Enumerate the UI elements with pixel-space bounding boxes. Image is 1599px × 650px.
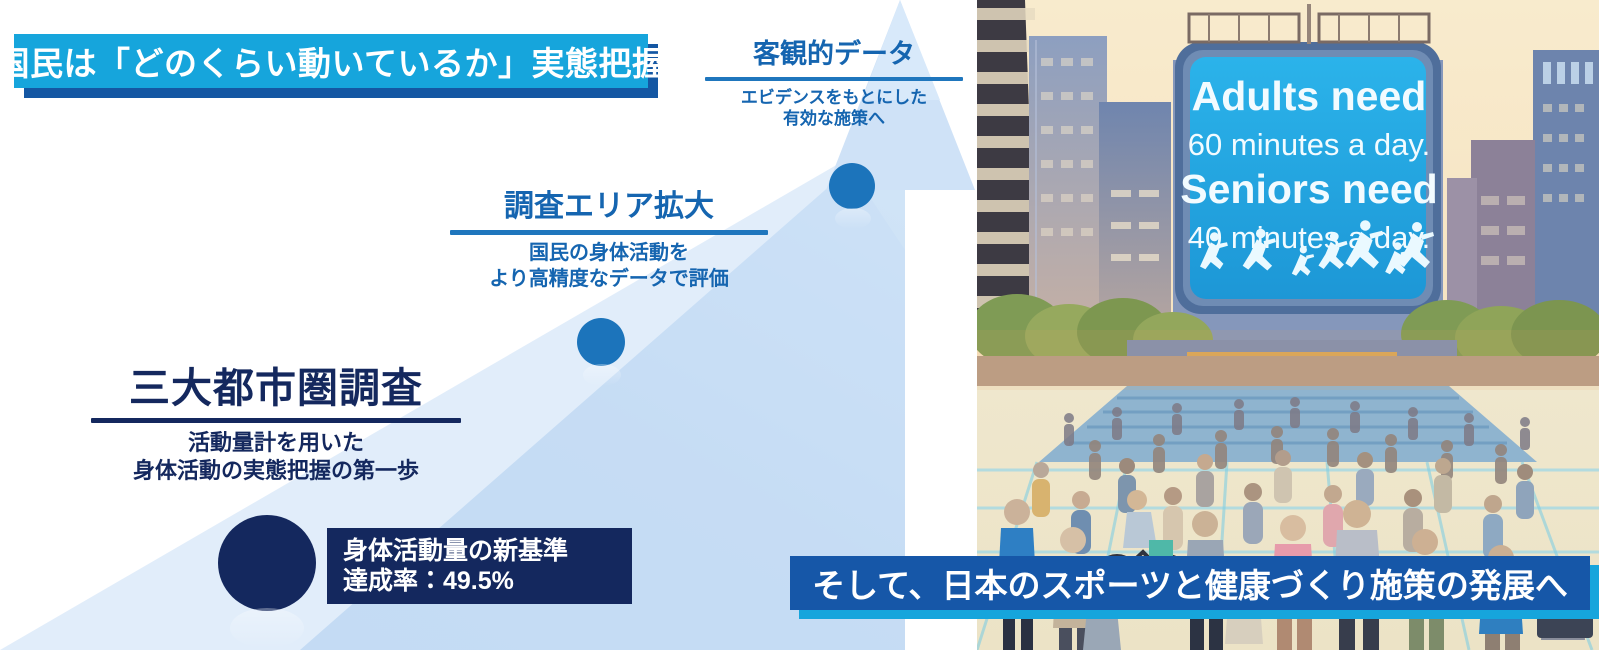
milestone-dot-survey-area-expansion bbox=[577, 318, 625, 366]
milestone-dot-reflection-2 bbox=[583, 364, 621, 386]
milestone-objective-data-subtitle-line2: 有効な施策へ bbox=[684, 108, 984, 130]
milestone-survey-area-expansion-rule bbox=[450, 230, 768, 235]
header-banner-body: 国民は「どのくらい動いているか」実態把握 bbox=[14, 34, 648, 88]
milestone-objective-data: 客観的データ エビデンスをもとにした 有効な施策へ bbox=[684, 40, 984, 130]
milestone-three-metro-survey-rule bbox=[91, 418, 461, 423]
billboard-line4: 40 minutes a day. bbox=[1188, 220, 1430, 255]
result-badge-line1: 身体活動量の新基準 bbox=[343, 536, 632, 567]
billboard-line1: Adults need bbox=[1192, 73, 1427, 119]
milestone-three-metro-survey-subtitle-line2: 身体活動の実態把握の第一歩 bbox=[66, 457, 486, 485]
milestone-three-metro-survey: 三大都市圏調査 活動量計を用いた 身体活動の実態把握の第一歩 bbox=[66, 366, 486, 485]
city-plaza-illustration-svg: Adults need 60 minutes a day. Seniors ne… bbox=[977, 0, 1599, 650]
milestone-three-metro-survey-subtitle-line1: 活動量計を用いた bbox=[66, 429, 486, 457]
header-banner: 国民は「どのくらい動いているか」実態把握 bbox=[14, 34, 648, 88]
city-plaza-photo: Adults need 60 minutes a day. Seniors ne… bbox=[977, 0, 1599, 650]
result-badge: 身体活動量の新基準 達成率：49.5% bbox=[327, 528, 632, 604]
milestone-dot-reflection-3 bbox=[835, 208, 871, 229]
milestone-survey-area-expansion-subtitle-line1: 国民の身体活動を bbox=[432, 241, 786, 267]
milestone-dot-three-metro-survey bbox=[218, 515, 316, 611]
milestone-survey-area-expansion-title: 調査エリア拡大 bbox=[432, 190, 786, 223]
milestone-objective-data-subtitle-line1: エビデンスをもとにした bbox=[684, 87, 984, 109]
milestone-dot-reflection-1 bbox=[230, 608, 304, 648]
milestone-survey-area-expansion-subtitle-line2: より高精度なデータで評価 bbox=[432, 267, 786, 293]
footer-banner: そして、日本のスポーツと健康づくり施策の発展へ bbox=[790, 556, 1590, 610]
milestone-survey-area-expansion: 調査エリア拡大 国民の身体活動を より高精度なデータで評価 bbox=[432, 190, 786, 292]
footer-banner-body: そして、日本のスポーツと健康づくり施策の発展へ bbox=[790, 556, 1590, 610]
milestone-objective-data-title: 客観的データ bbox=[684, 40, 984, 70]
milestone-objective-data-rule bbox=[705, 77, 963, 81]
result-badge-line2: 達成率：49.5% bbox=[343, 566, 632, 597]
header-banner-title: 国民は「どのくらい動いているか」実態把握 bbox=[0, 37, 666, 85]
milestone-dot-objective-data bbox=[829, 163, 875, 209]
footer-banner-title: そして、日本のスポーツと健康づくり施策の発展へ bbox=[812, 559, 1568, 607]
slide-canvas: 国民は「どのくらい動いているか」実態把握 客観的データ エビデンスをもとにした … bbox=[0, 0, 1599, 650]
billboard-line3: Seniors need bbox=[1180, 166, 1437, 212]
billboard-line2: 60 minutes a day. bbox=[1188, 127, 1430, 162]
milestone-three-metro-survey-title: 三大都市圏調査 bbox=[66, 366, 486, 411]
